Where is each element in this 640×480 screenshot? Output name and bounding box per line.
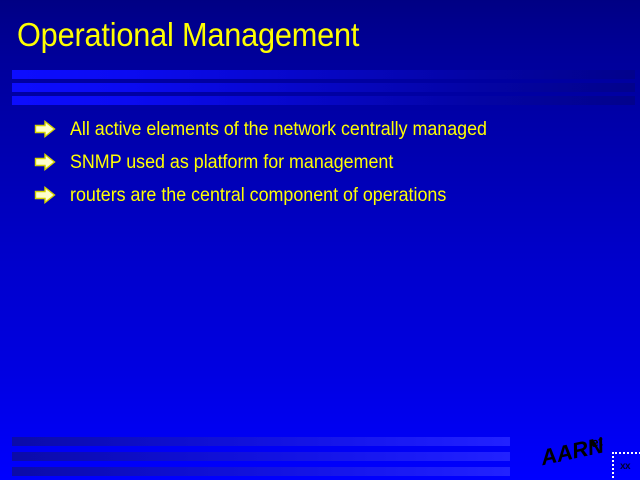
list-item: SNMP used as platform for management [34, 151, 614, 184]
right-arrow-bullet-icon [34, 151, 70, 171]
list-item: All active elements of the network centr… [34, 118, 614, 151]
list-item-label: SNMP used as platform for management [70, 151, 393, 175]
bullet-list: All active elements of the network centr… [34, 118, 614, 217]
right-arrow-bullet-icon [34, 184, 70, 204]
decorative-bar [12, 467, 510, 476]
top-decorative-bars [0, 68, 640, 108]
right-arrow-bullet-icon [34, 118, 70, 138]
slide-number: xx [620, 461, 630, 472]
presentation-slide: Operational Management All active elemen… [0, 0, 640, 480]
list-item-label: All active elements of the network centr… [70, 118, 487, 142]
decorative-bar [12, 437, 510, 446]
slide-number-placeholder: xx [612, 452, 640, 480]
decorative-bar [12, 70, 635, 79]
list-item-label: routers are the central component of ope… [70, 184, 446, 208]
list-item: routers are the central component of ope… [34, 184, 614, 217]
decorative-bar [12, 83, 635, 92]
page-title: Operational Management [17, 15, 575, 57]
decorative-bar [12, 96, 635, 105]
aarnet-logo: AARN et [538, 432, 614, 466]
decorative-bar [12, 452, 510, 461]
svg-text:et: et [590, 433, 605, 450]
